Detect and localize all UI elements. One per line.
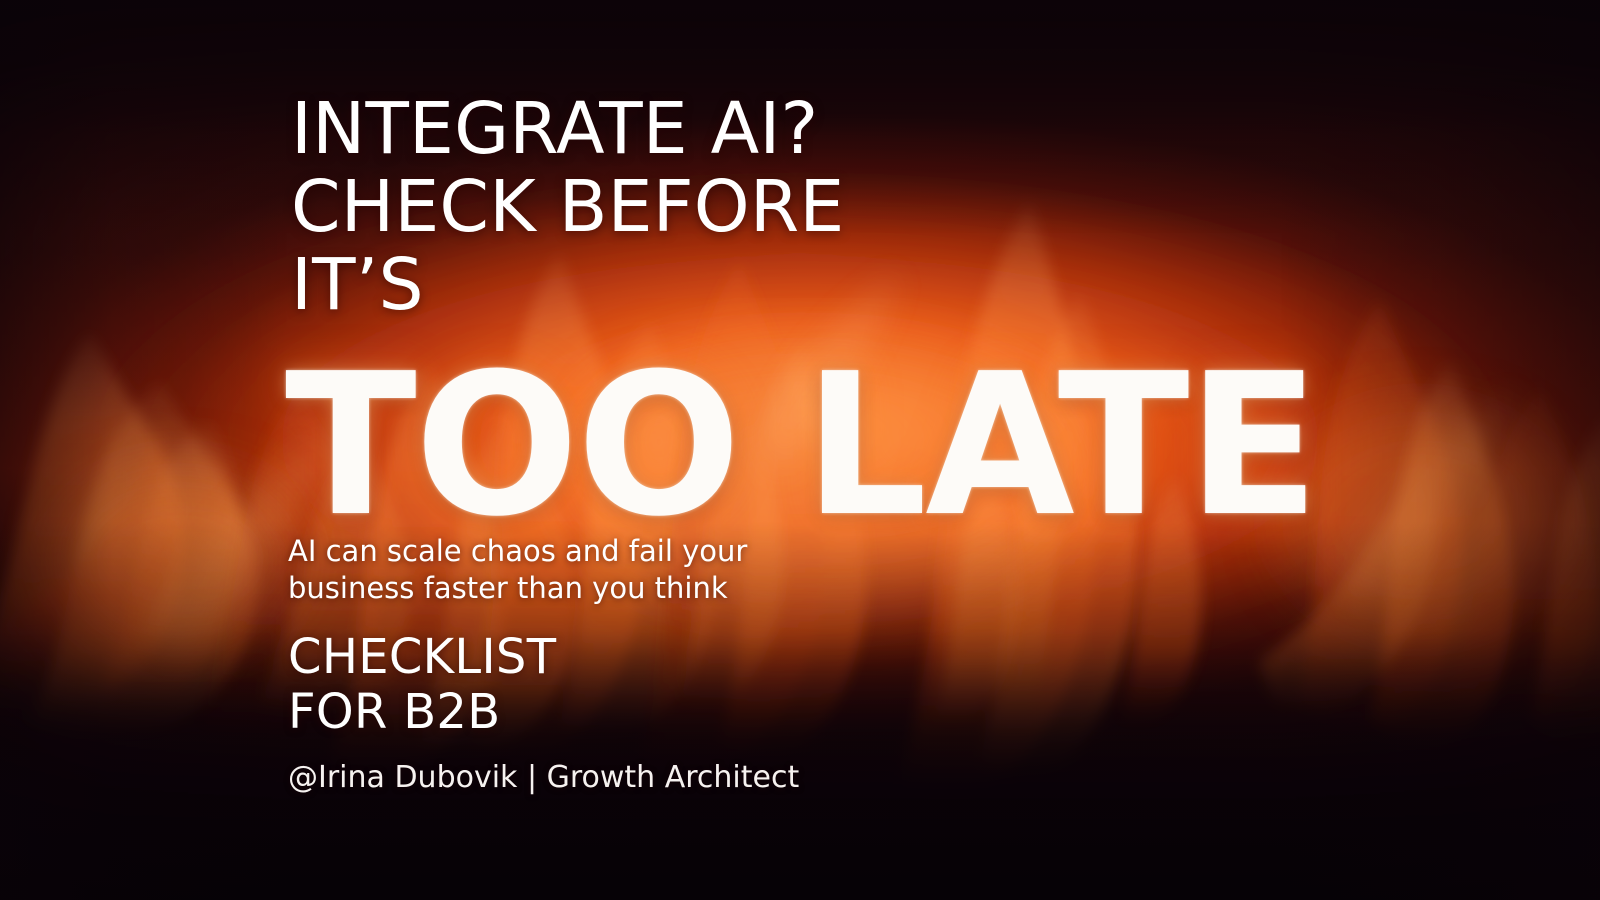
section-heading: CHECKLIST FOR B2B [288, 630, 848, 740]
presentation-slide: INTEGRATE AI? CHECK BEFORE IT’S TOO LATE… [0, 0, 1600, 900]
author-byline: @Irina Dubovik | Growth Architect [288, 759, 1008, 797]
slide-content: INTEGRATE AI? CHECK BEFORE IT’S TOO LATE… [285, 0, 1485, 900]
headline: INTEGRATE AI? CHECK BEFORE IT’S [291, 90, 1051, 324]
big-title: TOO LATE [285, 352, 1329, 540]
subtitle: AI can scale chaos and fail your busines… [288, 533, 848, 607]
